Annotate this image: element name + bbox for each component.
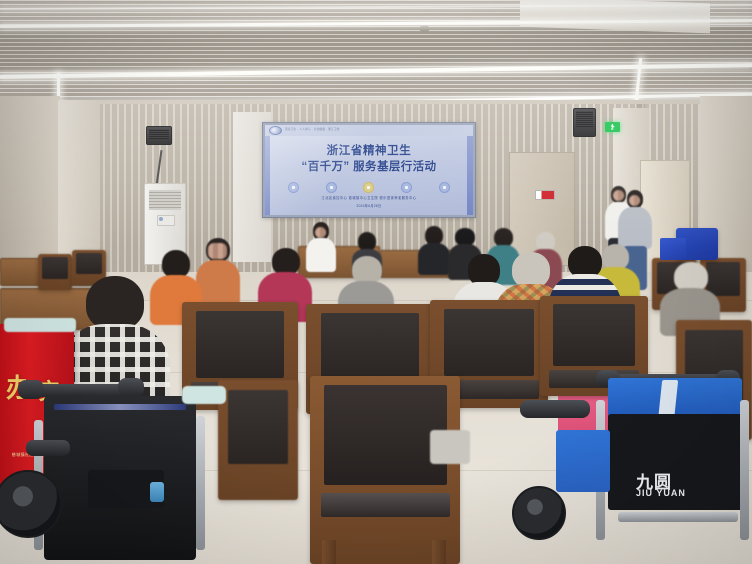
blue-bag-secondary — [660, 238, 686, 260]
presentation-slide: 国家卫生 · 人人参与 · 共创健康 · 浙江卫生 浙江省精神卫生 “百千万” … — [265, 125, 473, 215]
blurred-face — [629, 195, 640, 206]
blurred-face — [315, 227, 326, 238]
wheelchair-frame-right — [740, 400, 749, 540]
slide-organizations: 江北区疾控中心 慈城镇中心卫生院 颐乐居家养老服务中心 — [275, 195, 463, 200]
slide-title-line1: 浙江省精神卫生 — [275, 144, 463, 159]
towel-on-chair — [4, 318, 76, 332]
slide-logo-text: 国家卫生 · 人人参与 · 共创健康 · 浙江卫生 — [285, 129, 340, 132]
chair-backrest — [196, 311, 284, 378]
chair-leg-right — [432, 540, 446, 564]
attendee-front-left-dark — [196, 238, 240, 304]
chair-frame — [218, 380, 298, 500]
wall-speaker-right-icon — [573, 108, 596, 137]
torso — [418, 243, 450, 275]
speaker-grill — [149, 129, 169, 139]
wall-speaker-left-icon — [146, 126, 172, 145]
event-photograph: 国家卫生 · 人人参与 · 共创健康 · 浙江卫生 浙江省精神卫生 “百千万” … — [0, 0, 752, 564]
wheelchair-armrest-left[interactable] — [26, 440, 70, 456]
speaker-grill — [576, 111, 593, 127]
head — [86, 276, 144, 330]
wheelchair-trim-stripe — [54, 404, 186, 410]
wheelchair-storage-pouch: 九圆 JIU YUAN — [608, 414, 744, 510]
chair-leg-left — [322, 540, 336, 564]
head — [352, 256, 382, 284]
chair-backrest — [444, 309, 534, 376]
chair-backrest — [321, 313, 418, 381]
running-man-glyph — [611, 124, 615, 130]
slide-date: 2024年6月28日 — [275, 203, 463, 208]
ac-vent-grill — [149, 190, 181, 210]
circle-icon-gold — [363, 182, 374, 193]
torso — [196, 260, 240, 306]
slide-title-line2: “百千万” 服务基层行活动 — [275, 160, 463, 175]
chair-foreground-left[interactable] — [218, 380, 298, 500]
wheelchair-armrest-left[interactable] — [520, 400, 590, 418]
exit-sign-icon — [605, 122, 620, 132]
wheelchair-frame-right — [196, 416, 205, 550]
slide-accent-right — [467, 136, 473, 215]
projection-screen: 国家卫生 · 人人参与 · 共创健康 · 浙江卫生 浙江省精神卫生 “百千万” … — [262, 122, 476, 218]
blurred-face — [208, 243, 227, 259]
circle-icon-5 — [439, 182, 450, 193]
chair-backrest — [324, 385, 447, 485]
slide-accent-left — [265, 136, 270, 215]
wheelchair-handle-grip-left[interactable] — [18, 380, 44, 399]
chair-backrest — [228, 390, 289, 464]
wheelchair-caster-wheel — [512, 486, 566, 540]
circle-icon-2 — [326, 182, 337, 193]
slide-title: 浙江省精神卫生 “百千万” 服务基层行活动 — [275, 144, 463, 175]
head — [272, 248, 300, 275]
attendee-distant-2 — [418, 226, 450, 274]
health-logo-icon — [269, 126, 282, 135]
slide-icon-row — [275, 182, 463, 193]
fire-safety-sign-icon — [535, 190, 555, 200]
circle-icon-1 — [288, 182, 299, 193]
shoe-foreground — [430, 430, 470, 464]
chair-backrest — [76, 253, 102, 274]
head — [162, 250, 190, 278]
wheelchair-handle-grip-right[interactable] — [118, 378, 144, 397]
wheelchair-brand-en: JIU YUAN — [636, 488, 686, 498]
chair-seat — [321, 493, 450, 517]
chair-foreground[interactable] — [310, 376, 460, 564]
ac-indicator-light — [159, 217, 163, 221]
chair-frame — [310, 376, 460, 564]
towel-on-wheelchair — [182, 386, 226, 404]
water-bottle — [150, 482, 164, 502]
chair-backrest — [553, 304, 635, 366]
wheelchair-cross-brace — [618, 512, 738, 522]
circle-icon-4 — [401, 182, 412, 193]
torso — [618, 207, 652, 249]
slide-header-bar: 国家卫生 · 人人参与 · 共创健康 · 浙江卫生 — [265, 125, 473, 136]
wheelchair-side-panel — [556, 430, 610, 492]
ceiling-smoke-detector — [420, 26, 429, 32]
head — [512, 252, 550, 288]
